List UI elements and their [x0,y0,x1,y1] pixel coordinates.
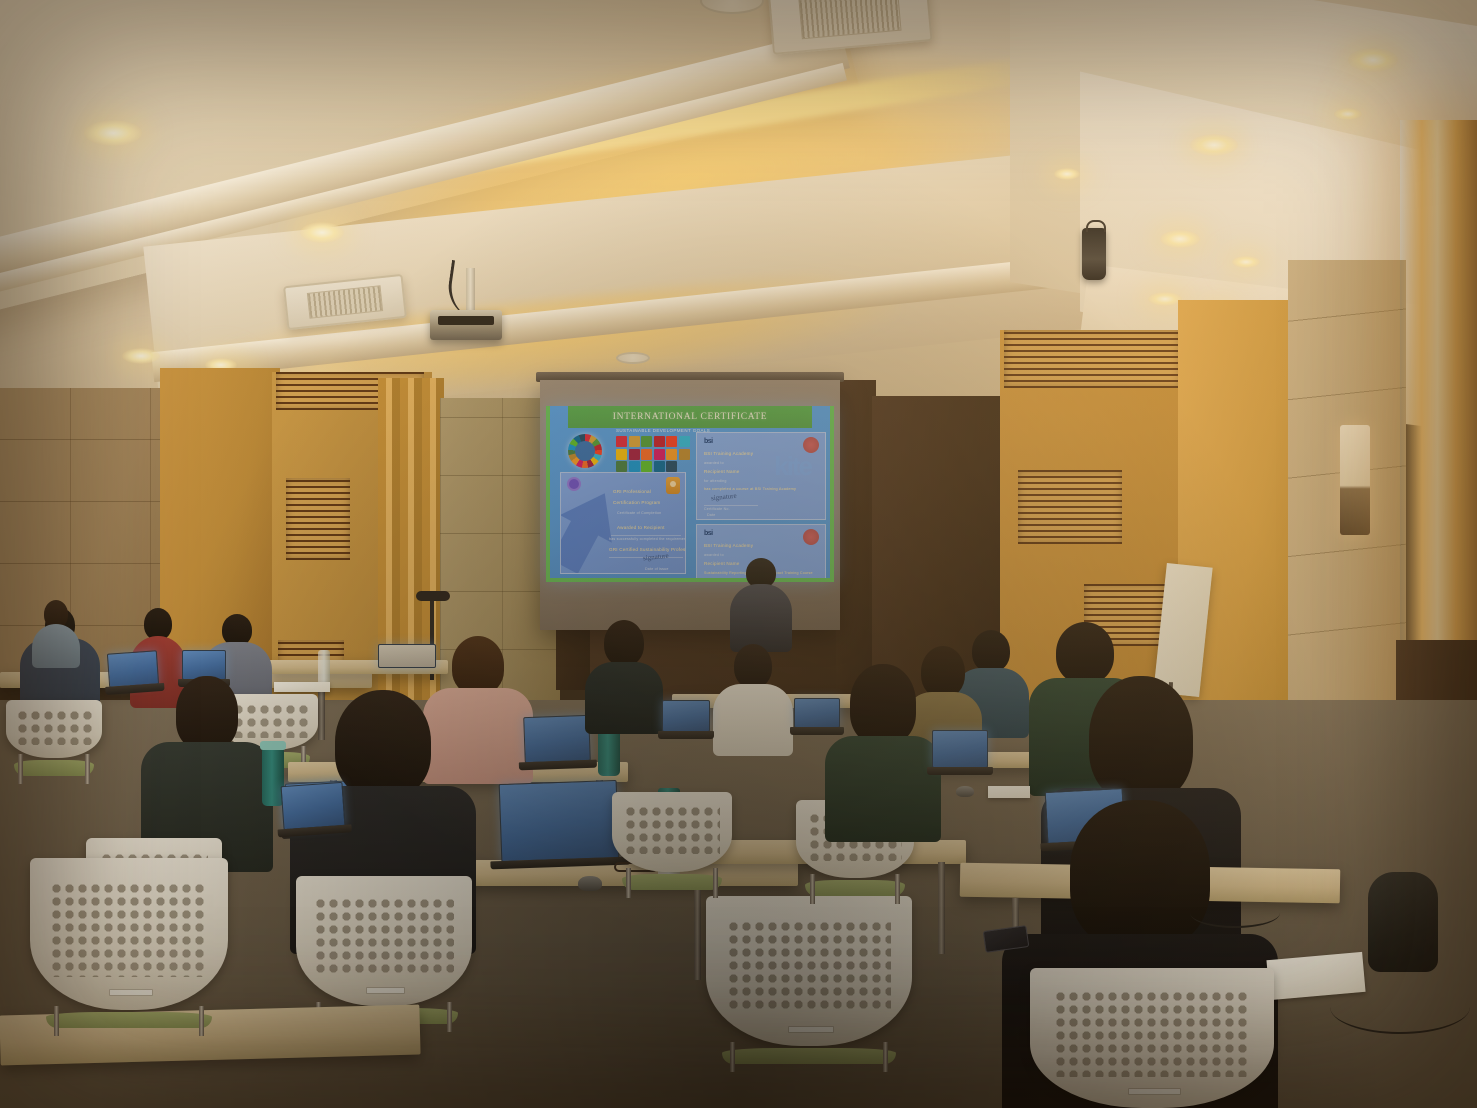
sdg-goal-tile [666,436,677,447]
sdg-goal-tile [654,461,665,472]
chair-label-tag [109,989,153,996]
laptop [378,644,436,668]
table-leg [694,884,701,980]
cert-left-signature: signature [643,552,669,563]
chair-perforations [50,882,208,976]
attendee-torso [32,624,80,668]
recessed-downlight [1232,256,1260,268]
chair-label-tag [788,1026,833,1033]
certificate-gri: GRI Professional Certification Program C… [560,472,686,574]
sdg-goal-tile [666,449,677,460]
chair [30,858,228,1010]
chair [1030,968,1274,1108]
gri-logo-icon [567,477,581,491]
recessed-downlight [122,348,160,364]
chair-seat [46,1012,212,1028]
paper-stack [988,786,1030,798]
chair [612,792,732,872]
attendee-head [1089,676,1193,802]
attendee-head [452,636,504,694]
laptop-base [658,731,715,739]
recessed-downlight [1334,108,1362,120]
certificate-seal-icon [803,529,819,545]
cert-left-subtitle: Certificate of Completion [617,511,661,515]
bsi-top-org: BSI Training Academy [704,451,753,456]
bsi-logo: bsi [704,438,713,445]
attendee-head [1070,800,1210,950]
recessed-downlight [1054,168,1080,180]
chair-leg [447,1002,452,1032]
attendee-head [1056,622,1114,684]
laptop-base [927,767,993,775]
attendee [722,644,784,752]
cert-left-award: GRI Certified Sustainability Professiona… [609,547,686,552]
bsi-top-course: has completed a course at BSI Training A… [704,487,796,491]
ac-grille-icon [307,285,384,318]
bsi-top-for: for attending [704,479,727,483]
ceiling-projector [430,310,502,340]
attendee-head [972,630,1010,672]
chair-label-tag [1128,1088,1182,1095]
cert-left-recipient: Awarded to Recipient [617,525,665,530]
cert-rule [611,535,681,536]
chair [6,700,102,758]
bsi-top-signature: signature [711,492,737,503]
bsi-top-awarded: awarded to [704,461,724,465]
wall-vent-grille [1018,470,1122,544]
laptop [662,700,710,732]
chair-perforations [727,920,892,1013]
laptop [499,780,620,862]
laptop [523,715,591,763]
chair-perforations [314,897,455,978]
chair-leg [199,1006,204,1036]
wall-sconce-light [1340,425,1370,535]
presenter [728,558,794,650]
attendee-head [734,644,772,688]
ceiling-speaker [1082,228,1106,280]
sdg-goal-tile [666,461,677,472]
training-room-photo: INTERNATIONAL CERTIFICATE SUSTAINABLE DE… [0,0,1477,1108]
bsi-top-recipient: Recipient Name [704,469,739,474]
sdg-goal-tile [679,436,690,447]
sdg-goal-tile [616,461,627,472]
attendee-head [335,690,431,798]
chair-leg [713,868,718,898]
sdg-goal-tile [641,436,652,447]
sdg-goal-tile [629,449,640,460]
laptop-screen [499,780,620,862]
chair-leg [54,1006,59,1036]
tumbler-lid [260,741,286,750]
table-leg [938,862,945,954]
laptop-screen [794,698,840,728]
cert-rule [704,505,758,506]
ac-grille-icon [799,0,902,39]
recessed-downlight [1148,292,1182,306]
chair-leg [895,874,900,904]
chair-leg [883,1042,888,1072]
projector-mount-pole [466,268,475,314]
sdg-goal-tile [629,461,640,472]
slide-banner-title: INTERNATIONAL CERTIFICATE [568,406,812,428]
water-bottle [318,650,330,686]
medal-icon [666,477,680,494]
sdg-goal-grid [616,436,690,472]
attendee-torso [713,684,793,756]
recessed-downlight [1190,134,1238,156]
projection-screen: INTERNATIONAL CERTIFICATE SUSTAINABLE DE… [540,380,840,630]
laptop-screen [662,700,710,732]
attendee [592,620,656,730]
chair [706,896,912,1046]
backpack [1368,872,1438,972]
laptop-base [790,727,844,735]
chair-label-tag [366,987,405,994]
recessed-downlight [1160,230,1200,248]
sdg-wheel-icon [568,434,602,468]
wall-vent-grille [1004,330,1180,388]
bsi-logo: bsi [704,530,713,537]
bsi-bottom-org: BSI Training Academy [704,543,753,548]
chair-seat [622,874,723,890]
chair-leg [18,754,23,784]
bsi-top-footer: Certificate No. [704,507,730,511]
chair-leg [810,874,815,904]
laptop-screen [378,644,436,668]
laptop-screen [523,715,591,763]
sdg-goal-tile [654,436,665,447]
chair [296,876,472,1006]
attendee-torso [585,662,663,734]
chair-leg [626,868,631,898]
bsi-top-date: Date [707,513,715,517]
laptop-screen [281,782,346,830]
laptop [932,730,988,768]
computer-mouse [578,876,602,891]
cert-left-body: has successfully completed the requireme… [609,537,686,541]
sdg-goal-tile [679,449,690,460]
sdg-goal-tile [654,449,665,460]
chair-perforations [624,805,720,855]
certificate-bsi-top: kite bsi BSI Training Academy awarded to… [696,432,826,520]
attendee-head [850,664,916,744]
chair-perforations [16,709,93,745]
recessed-downlight [300,222,344,243]
cert-left-line1: GRI Professional [613,489,651,494]
recessed-downlight [1348,48,1398,72]
computer-mouse [956,786,974,797]
presenter-torso [730,584,792,652]
power-cable [1190,898,1280,928]
ceiling-vent-icon [616,352,650,364]
sdg-goal-tile [616,449,627,460]
chair-leg [85,754,90,784]
attendee-torso [825,736,941,842]
chair-leg [730,1042,735,1072]
cert-left-footer: Date of issue [645,567,669,571]
attendee-head [604,620,644,666]
laptop [794,698,840,728]
sdg-goal-tile [629,436,640,447]
certificate-seal-icon [803,437,819,453]
projected-slide: INTERNATIONAL CERTIFICATE SUSTAINABLE DE… [546,406,834,582]
sdg-goal-tile [641,449,652,460]
chair-seat [722,1048,895,1064]
attendee [36,600,76,660]
attendee [834,664,932,834]
dark-wood-column-right [836,380,876,690]
attendee-head [176,676,238,750]
bsi-bottom-awarded: awarded to [704,553,724,557]
cert-left-line2: Certification Program [613,500,660,505]
chair-seat [805,880,904,896]
laptop [281,782,346,830]
bsi-watermark: kite [774,451,811,482]
laptop-screen [932,730,988,768]
chair-seat [14,760,95,776]
recessed-downlight [84,120,142,146]
power-cable [1330,980,1470,1034]
wall-vent-grille [286,478,350,560]
chair-perforations [1054,990,1249,1077]
sdg-goal-tile [641,461,652,472]
sdg-goal-tile [616,436,627,447]
